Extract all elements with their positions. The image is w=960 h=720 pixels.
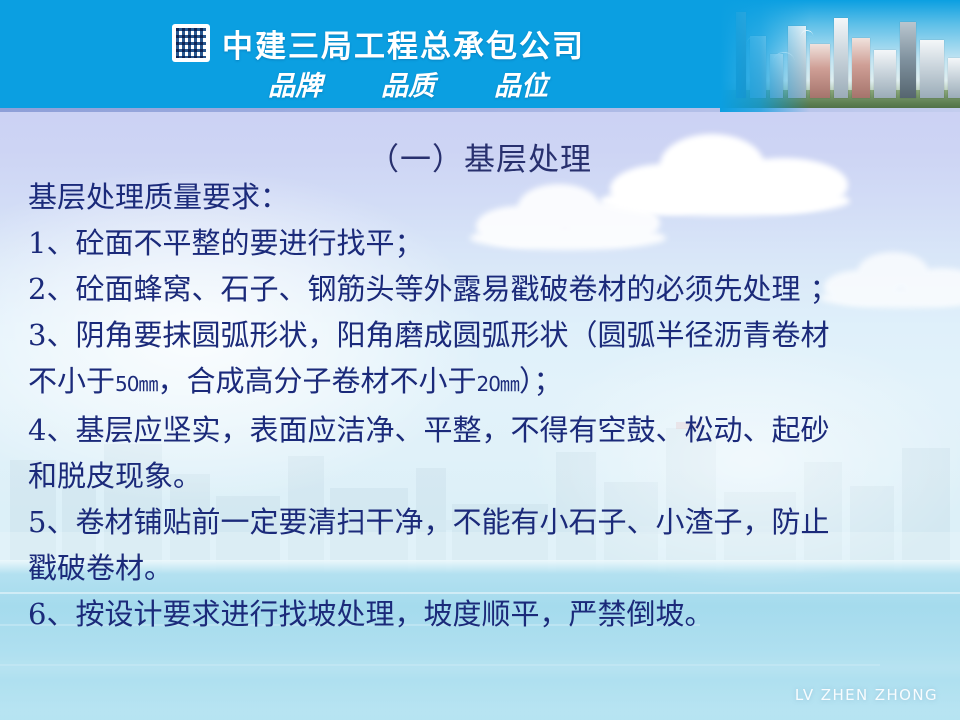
company-emblem-icon <box>172 24 210 62</box>
text-line-item4a: 4、基层应坚实，表面应洁净、平整，不得有空鼓、松动、起砂 <box>28 407 940 453</box>
text-line-item5a: 5、卷材铺贴前一定要清扫干净，不能有小石子、小渣子，防止 <box>28 499 940 545</box>
item3b-prefix: 不小于 <box>28 364 115 398</box>
photo-building <box>874 50 896 98</box>
photo-building <box>920 40 944 98</box>
company-name: 中建三局工程总承包公司 <box>222 21 585 66</box>
page-title: （一）基层处理 <box>0 134 960 179</box>
item3b-value-2: 20㎜ <box>476 372 518 396</box>
photo-building <box>852 38 870 98</box>
photo-building <box>810 44 830 98</box>
watermark: LV ZHEN ZHONG <box>795 686 938 704</box>
photo-building <box>900 22 916 98</box>
photo-building <box>834 18 848 98</box>
text-line-item2: 2、砼面蜂窝、石子、钢筋头等外露易戳破卷材的必须先处理 ； <box>28 266 940 312</box>
text-line-item4b: 和脱皮现象。 <box>28 453 940 499</box>
item3b-middle: ，合成高分子卷材不小于 <box>157 364 476 398</box>
header-banner: 中建三局工程总承包公司 品牌 品质 品位 <box>0 0 960 112</box>
text-line-item5b: 戳破卷材。 <box>28 545 940 591</box>
slogan-word-1: 品牌 <box>268 64 322 103</box>
company-slogan: 品牌 品质 品位 <box>268 64 548 103</box>
text-line-intro: 基层处理质量要求： <box>28 174 940 220</box>
photo-fade-overlay <box>720 0 810 112</box>
text-line-item1: 1、砼面不平整的要进行找平； <box>28 220 940 266</box>
photo-building <box>948 58 960 98</box>
header-skyline-photo <box>720 0 960 112</box>
body-text-block: 基层处理质量要求： 1、砼面不平整的要进行找平； 2、砼面蜂窝、石子、钢筋头等外… <box>28 174 940 637</box>
text-line-item6: 6、按设计要求进行找坡处理，坡度顺平，严禁倒坡。 <box>28 591 940 637</box>
slogan-word-2: 品质 <box>381 64 435 103</box>
item3b-value-1: 50㎜ <box>115 372 157 396</box>
company-emblem-glyph <box>176 28 206 58</box>
text-line-item3b: 不小于50㎜，合成高分子卷材不小于20㎜）； <box>28 358 940 407</box>
item3b-suffix: ）； <box>519 364 563 398</box>
slide: 中建三局工程总承包公司 品牌 品质 品位 （一）基层处理 基层处理质量要求： 1… <box>0 0 960 720</box>
slide-content: （一）基层处理 基层处理质量要求： 1、砼面不平整的要进行找平； 2、砼面蜂窝、… <box>0 112 960 720</box>
slogan-word-3: 品位 <box>494 64 548 103</box>
text-line-item3a: 3、阴角要抹圆弧形状，阳角磨成圆弧形状（圆弧半径沥青卷材 <box>28 312 940 358</box>
